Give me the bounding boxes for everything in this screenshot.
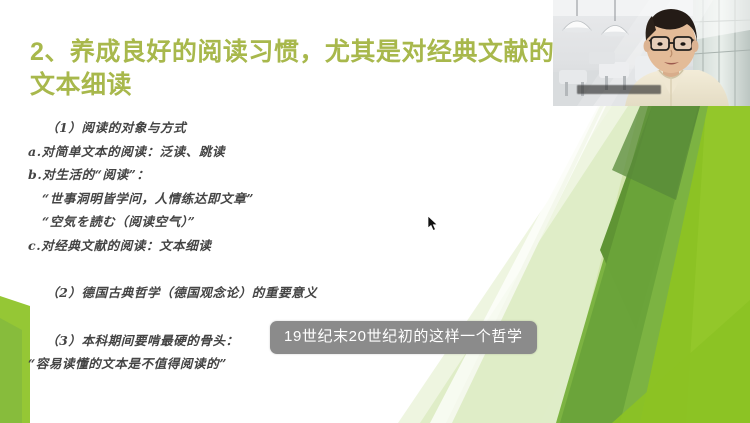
body-line-5: “空気を読む（阅读空气）” [28, 210, 448, 234]
slide-title: 2、养成良好的阅读习惯，尤其是对经典文献的 文本细读 [30, 36, 560, 102]
slide-screen: 2、养成良好的阅读习惯，尤其是对经典文献的 文本细读 （1）阅读的对象与方式 a… [0, 0, 750, 423]
body-line-9: “容易读懂的文本是不值得阅读的” [28, 352, 448, 376]
webcam-name-label [577, 85, 661, 94]
body-line-6: c.对经典文献的阅读：文本细读 [28, 234, 448, 258]
body-line-4: “世事洞明皆学问，人情练达即文章” [28, 187, 448, 211]
cursor-arrow-icon [428, 216, 440, 232]
caption-subtitle-box: 19世纪末20世纪初的这样一个哲学 [270, 321, 537, 354]
body-line-1: （1）阅读的对象与方式 [28, 116, 448, 140]
body-line-3: b.对生活的“阅读”： [28, 163, 448, 187]
body-line-7: （2）德国古典哲学（德国观念论）的重要意义 [28, 281, 448, 305]
body-line-2: a.对简单文本的阅读：泛读、跳读 [28, 140, 448, 164]
mouse-cursor [428, 216, 440, 232]
webcam-video-overlay[interactable] [553, 0, 750, 106]
